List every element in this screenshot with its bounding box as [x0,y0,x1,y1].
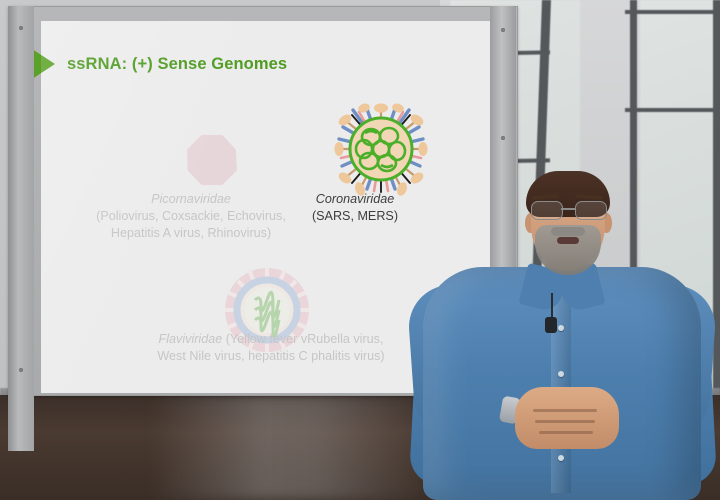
caption-flaviviridae-line3-overlap: phalitis virus) [311,349,384,363]
presenter-hands [515,387,619,449]
caption-picornaviridae-line3: Hepatitis A virus, Rhinovirus) [61,225,321,242]
microphone-wire [551,293,553,319]
window-mullion-horizontal-3 [625,10,720,14]
caption-coronaviridae: Coronaviridae (SARS, MERS) [289,191,421,225]
presenter [405,175,720,500]
picornavirus-particle-icon [186,134,238,186]
caption-flaviviridae: Flaviviridae (Yellow fever vRubella viru… [111,331,431,365]
slide-title-row: ssRNA: (+) Sense Genomes [41,47,287,81]
finger-line [535,420,595,423]
post-screw-icon [19,26,23,30]
caption-picornaviridae: Picornaviridae (Poliovirus, Coxsackie, E… [61,191,321,242]
caption-picornaviridae-line2: (Poliovirus, Coxsackie, Echovirus, [61,208,321,225]
presenter-mustache [551,227,585,236]
eyeglass-lens-right [575,201,607,220]
eyeglass-bridge [561,208,575,210]
caption-flaviviridae-line1: Flaviviridae (Yellow fever vRubella viru… [111,331,431,348]
panel-post-left [8,6,34,451]
caption-flaviviridae-line2-overlap: Rubella virus, [307,332,383,346]
eyeglasses-icon [529,201,609,219]
post-screw-icon [501,28,505,32]
caption-picornaviridae-family: Picornaviridae [61,191,321,208]
post-screw-icon [19,368,23,372]
finger-line [539,431,593,434]
caption-flaviviridae-line2row: West Nile virus, hepatitis C phalitis vi… [111,348,431,365]
caption-coronaviridae-family: Coronaviridae [289,191,421,208]
window-mullion-horizontal-4 [625,108,720,112]
shirt-button [558,371,564,377]
caption-flaviviridae-line2: (Yellow fever v [226,332,307,346]
presenter-mouth [557,237,579,244]
post-screw-icon [501,136,505,140]
caption-flaviviridae-family: Flaviviridae [159,332,223,346]
lapel-microphone-icon [545,317,557,333]
video-frame: ssRNA: (+) Sense Genomes [0,0,720,500]
caption-flaviviridae-line3: West Nile virus, hepatitis C [157,349,307,363]
shirt-button [558,325,564,331]
floor-reflection [150,395,430,500]
shirt-button [558,455,564,461]
page-title: ssRNA: (+) Sense Genomes [67,55,287,74]
eyeglass-lens-left [531,201,563,220]
caption-coronaviridae-line2: (SARS, MERS) [289,208,421,225]
finger-line [533,409,597,412]
